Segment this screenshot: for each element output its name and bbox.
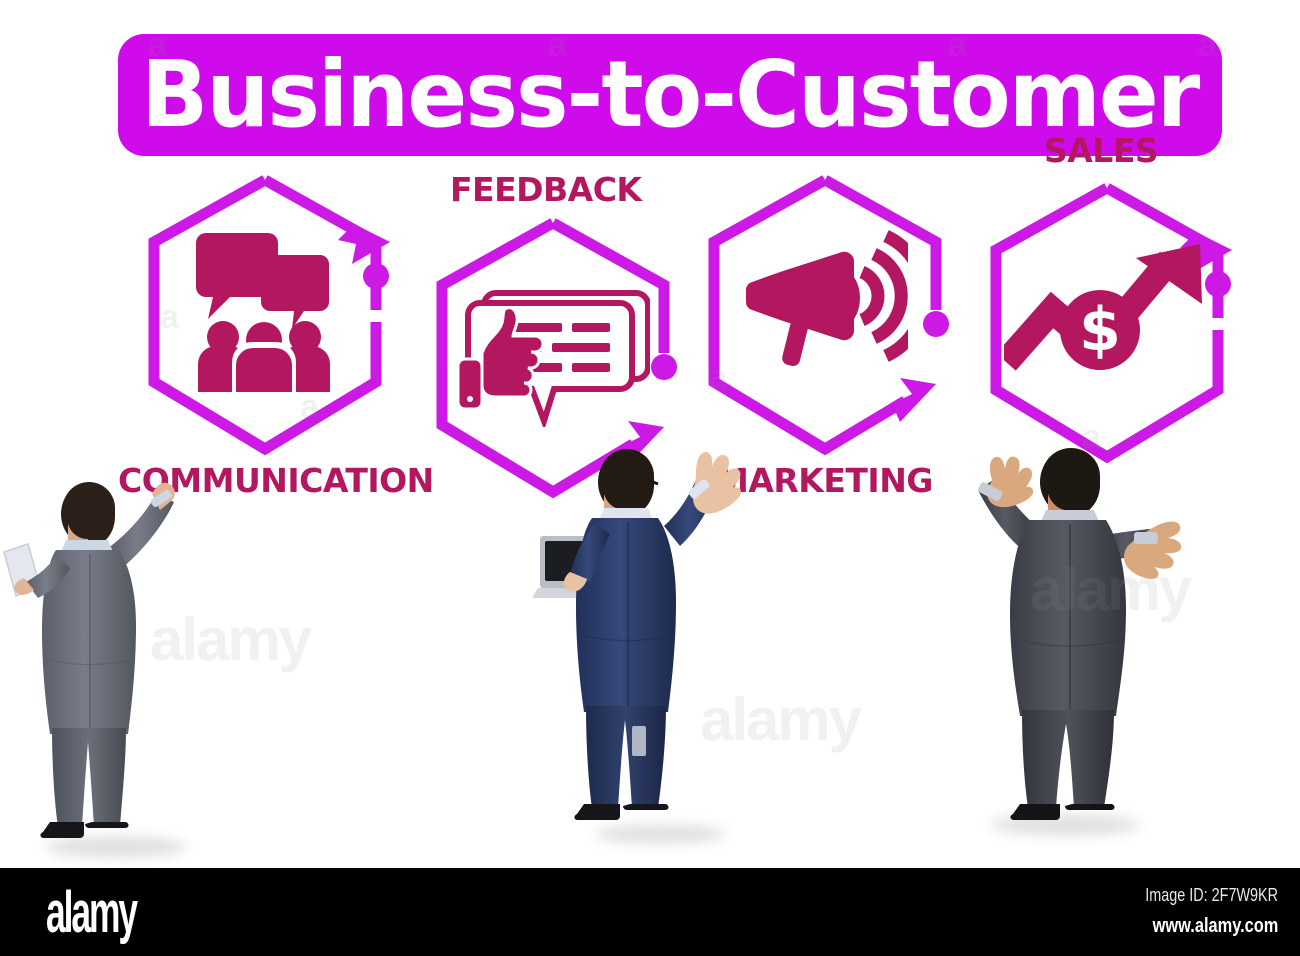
step-sales[interactable]: $ SALES xyxy=(982,180,1232,470)
step-communication[interactable]: COMMUNICATION xyxy=(140,172,390,462)
businessman-navy-suit xyxy=(528,440,758,840)
megaphone-icon xyxy=(738,224,908,384)
page-title: Business-to-Customer xyxy=(141,49,1198,141)
speech-bubbles-people-icon xyxy=(192,227,338,392)
image-id-label: Image ID: 2F7W9KR xyxy=(1145,886,1278,904)
alamy-logo: alamy xyxy=(46,884,136,942)
businessman-charcoal-suit xyxy=(930,428,1200,838)
step-label-sales: SALES xyxy=(1044,134,1158,167)
svg-text:$: $ xyxy=(1079,295,1121,365)
illustration-canvas: a a a a a a a a alamy alamy alamy Busine… xyxy=(0,0,1300,956)
thumbs-up-chat-icon xyxy=(458,287,650,427)
step-marketing[interactable]: MARKETING xyxy=(700,172,950,462)
alamy-footer-bar: alamy Image ID: 2F7W9KR www.alamy.com xyxy=(0,868,1300,956)
step-label-feedback: FEEDBACK xyxy=(450,173,642,206)
businessman-grey-suit xyxy=(0,470,210,850)
alamy-url[interactable]: www.alamy.com xyxy=(1152,916,1278,936)
dollar-growth-arrow-icon: $ xyxy=(1004,238,1209,378)
